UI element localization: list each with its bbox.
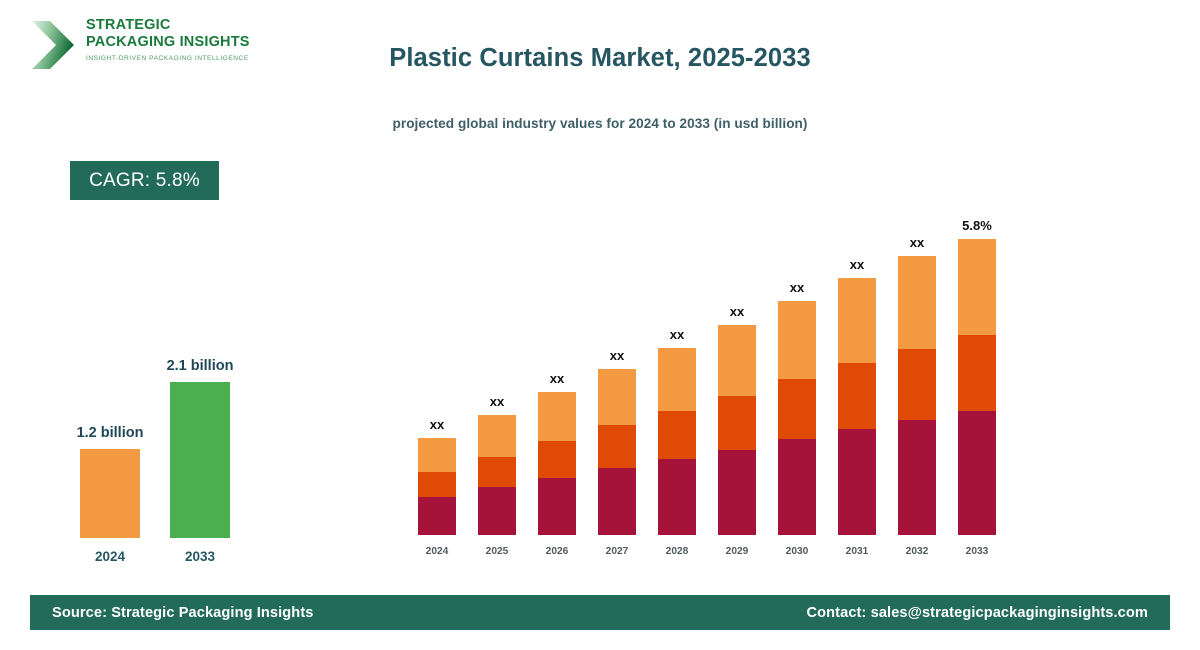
page-subtitle: projected global industry values for 202… <box>280 116 920 131</box>
stacked-bar-year: 2032 <box>898 546 936 557</box>
stacked-bar-segment <box>718 450 756 535</box>
stacked-bar <box>538 392 576 535</box>
stacked-bar-segment <box>898 256 936 349</box>
brand-tagline: INSIGHT-DRIVEN PACKAGING INTELLIGENCE <box>86 55 266 62</box>
stacked-bar-value-label: xx <box>898 235 936 250</box>
stacked-bar <box>418 438 456 535</box>
footer-bar: Source: Strategic Packaging Insights Con… <box>30 595 1170 630</box>
brand-name-line1: STRATEGIC <box>86 17 266 34</box>
stacked-bar <box>658 348 696 535</box>
stacked-bar-value-label: xx <box>658 327 696 342</box>
stacked-bar-value-label: xx <box>838 257 876 272</box>
page-title: Plastic Curtains Market, 2025-2033 <box>280 44 920 73</box>
stacked-bar-value-label: xx <box>718 304 756 319</box>
stacked-bar-segment <box>898 349 936 420</box>
stacked-bar-segment <box>418 472 456 497</box>
infographic-canvas: STRATEGIC PACKAGING INSIGHTS INSIGHT-DRI… <box>0 0 1200 650</box>
stacked-bar-segment <box>778 301 816 379</box>
brand-name-line2: PACKAGING INSIGHTS <box>86 34 266 51</box>
stacked-bar-chart: xx2024xx2025xx2026xx2027xx2028xx2029xx20… <box>400 200 1020 560</box>
stacked-bar-segment <box>598 468 636 535</box>
stacked-bar-segment <box>478 487 516 535</box>
stacked-bar-year: 2028 <box>658 546 696 557</box>
stacked-bar-year: 2033 <box>958 546 996 557</box>
brand-wordmark: STRATEGIC PACKAGING INSIGHTS INSIGHT-DRI… <box>86 17 266 62</box>
stacked-bar-year: 2029 <box>718 546 756 557</box>
comparison-bar-year: 2033 <box>170 549 230 564</box>
stacked-bar-segment <box>778 439 816 535</box>
stacked-bar-value-label: xx <box>478 394 516 409</box>
stacked-bar-segment <box>958 335 996 411</box>
stacked-bar-segment <box>658 411 696 459</box>
stacked-bar <box>778 301 816 535</box>
stacked-bar <box>478 415 516 535</box>
stacked-bar-segment <box>838 429 876 535</box>
stacked-bar-segment <box>538 392 576 441</box>
footer-source: Source: Strategic Packaging Insights <box>52 605 314 621</box>
comparison-chart: 1.2 billion20242.1 billion2033 <box>40 300 290 570</box>
stacked-bar-segment <box>538 478 576 535</box>
stacked-bar <box>598 369 636 535</box>
stacked-bar-segment <box>718 396 756 450</box>
stacked-bar <box>718 325 756 535</box>
stacked-bar-segment <box>898 420 936 535</box>
stacked-bar <box>958 239 996 535</box>
stacked-bar-segment <box>958 239 996 335</box>
comparison-bar <box>170 382 230 538</box>
stacked-bar-segment <box>658 459 696 535</box>
comparison-bar <box>80 449 140 538</box>
brand-logo: STRATEGIC PACKAGING INSIGHTS INSIGHT-DRI… <box>30 16 270 78</box>
cagr-badge: CAGR: 5.8% <box>70 161 219 200</box>
stacked-bar-year: 2025 <box>478 546 516 557</box>
stacked-bar-value-label: xx <box>778 280 816 295</box>
stacked-bar-year: 2031 <box>838 546 876 557</box>
stacked-bar-segment <box>718 325 756 396</box>
chevron-right-icon <box>30 18 78 72</box>
comparison-bar-value: 1.2 billion <box>65 425 155 441</box>
stacked-bar-segment <box>418 438 456 472</box>
stacked-bar-segment <box>778 379 816 439</box>
stacked-bar <box>898 256 936 535</box>
stacked-bar-segment <box>418 497 456 535</box>
stacked-bar-year: 2026 <box>538 546 576 557</box>
stacked-bar-value-label: xx <box>538 371 576 386</box>
stacked-bar-value-label: xx <box>418 417 456 432</box>
stacked-bar-segment <box>598 369 636 425</box>
stacked-bar-value-label: 5.8% <box>958 218 996 233</box>
stacked-bar-segment <box>478 457 516 487</box>
stacked-bar-year: 2027 <box>598 546 636 557</box>
stacked-bar-segment <box>838 278 876 363</box>
stacked-bar-value-label: xx <box>598 348 636 363</box>
stacked-bar-segment <box>478 415 516 457</box>
stacked-bar-year: 2024 <box>418 546 456 557</box>
footer-contact: Contact: sales@strategicpackaginginsight… <box>806 605 1148 621</box>
comparison-bar-year: 2024 <box>80 549 140 564</box>
stacked-bar <box>838 278 876 535</box>
stacked-bar-segment <box>538 441 576 478</box>
stacked-bar-segment <box>838 363 876 429</box>
stacked-bar-segment <box>598 425 636 468</box>
stacked-bar-year: 2030 <box>778 546 816 557</box>
stacked-bar-segment <box>658 348 696 411</box>
stacked-bar-segment <box>958 411 996 535</box>
comparison-bar-value: 2.1 billion <box>155 358 245 374</box>
